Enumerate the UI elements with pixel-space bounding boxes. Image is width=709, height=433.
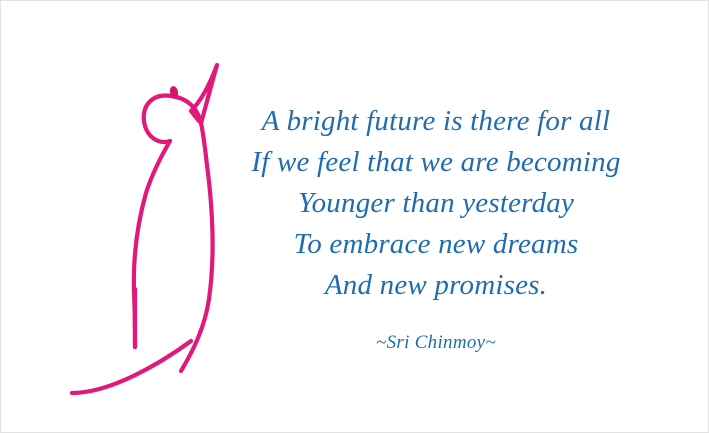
bird-beak	[191, 65, 217, 123]
poster-canvas: A bright future is there for all If we f…	[0, 0, 709, 433]
bird-tail-stroke	[72, 341, 191, 393]
bird-strokes	[72, 65, 217, 393]
bird-svg	[41, 41, 241, 411]
poem-line-5: And new promises.	[226, 265, 646, 306]
bird-line-drawing	[41, 41, 241, 411]
poem-line-1: A bright future is there for all	[226, 101, 646, 142]
poem-line-3: Younger than yesterday	[226, 183, 646, 224]
poem-line-4: To embrace new dreams	[226, 224, 646, 265]
bird-head-arc	[144, 96, 171, 142]
poem-attribution: ~Sri Chinmoy~	[226, 332, 646, 354]
poem-block: A bright future is there for all If we f…	[226, 101, 646, 354]
poem-line-2: If we feel that we are becoming	[226, 142, 646, 183]
bird-right-body	[171, 96, 213, 371]
bird-left-body	[134, 141, 170, 347]
